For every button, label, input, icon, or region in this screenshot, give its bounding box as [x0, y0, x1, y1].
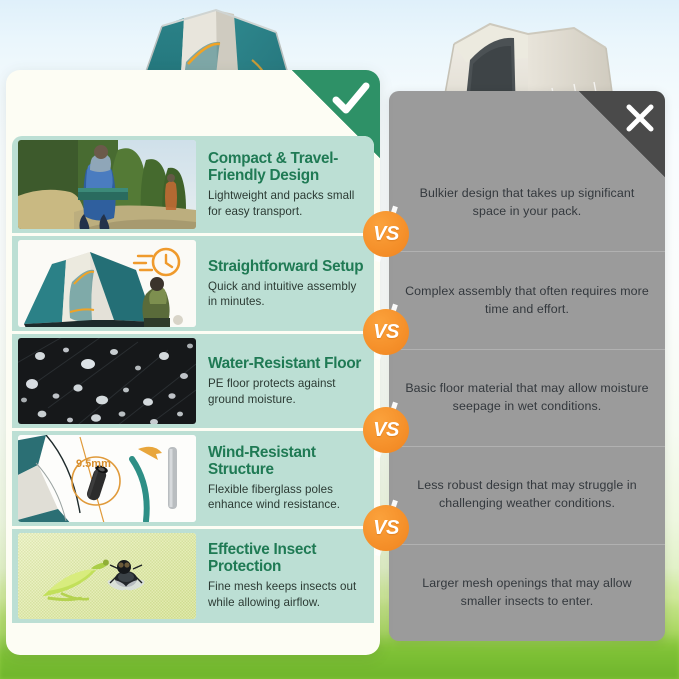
product-row-title: Effective Insect Protection — [208, 541, 364, 575]
product-row-image — [18, 533, 196, 619]
comparison-card-product: Compact & Travel-Friendly Design Lightwe… — [6, 70, 380, 655]
comparison-card-competitor: Bulkier design that takes up significant… — [389, 91, 665, 641]
product-row-image — [18, 338, 196, 424]
check-icon — [331, 82, 371, 118]
product-row-image: 9.5mm — [18, 435, 196, 521]
product-row: Water-Resistant Floor PE floor protects … — [12, 331, 374, 428]
vs-badge: VS — [363, 309, 409, 355]
product-row-desc: Flexible fiberglass poles enhance wind r… — [208, 482, 364, 513]
infographic-canvas: COSCO Bulkier de — [0, 0, 679, 679]
product-row: Straightforward Setup Quick and intuitiv… — [12, 233, 374, 330]
vs-badge: VS — [363, 407, 409, 453]
competitor-row: Complex assembly that often requires mor… — [389, 251, 665, 348]
competitor-row-text: Complex assembly that often requires mor… — [405, 283, 649, 319]
product-row-title: Wind-Resistant Structure — [208, 444, 364, 478]
competitor-row-text: Basic floor material that may allow mois… — [405, 380, 649, 416]
product-row-list: Compact & Travel-Friendly Design Lightwe… — [12, 136, 374, 647]
vs-badge-label: VS — [363, 309, 409, 355]
product-row-text: Water-Resistant Floor PE floor protects … — [196, 334, 374, 428]
competitor-row: Larger mesh openings that may allow smal… — [389, 544, 665, 641]
product-row-image — [18, 140, 196, 229]
vs-badge: VS — [363, 505, 409, 551]
vs-badge-label: VS — [363, 505, 409, 551]
vs-badge: VS — [363, 211, 409, 257]
competitor-row-list: Bulkier design that takes up significant… — [389, 154, 665, 641]
product-row-image — [18, 240, 196, 326]
product-row-desc: PE floor protects against ground moistur… — [208, 376, 364, 407]
product-row-desc: Fine mesh keeps insects out while allowi… — [208, 579, 364, 610]
product-row: Compact & Travel-Friendly Design Lightwe… — [12, 136, 374, 233]
product-row-text: Straightforward Setup Quick and intuitiv… — [196, 236, 374, 330]
product-row: Effective Insect Protection Fine mesh ke… — [12, 526, 374, 623]
product-row-title: Straightforward Setup — [208, 258, 364, 275]
product-row-desc: Lightweight and packs small for easy tra… — [208, 188, 364, 219]
competitor-row-text: Less robust design that may struggle in … — [405, 477, 649, 513]
product-row-text: Wind-Resistant Structure Flexible fiberg… — [196, 431, 374, 525]
competitor-row: Basic floor material that may allow mois… — [389, 349, 665, 446]
competitor-row-text: Bulkier design that takes up significant… — [405, 185, 649, 221]
product-row: 9.5mm Wind-Resistant Structure Flexible … — [12, 428, 374, 525]
close-icon — [623, 101, 657, 135]
competitor-row-text: Larger mesh openings that may allow smal… — [405, 575, 649, 611]
vs-badge-label: VS — [363, 407, 409, 453]
product-row-title: Compact & Travel-Friendly Design — [208, 150, 364, 184]
pole-diameter-callout: 9.5mm — [76, 458, 111, 470]
product-row-text: Effective Insect Protection Fine mesh ke… — [196, 529, 374, 623]
vs-badge-label: VS — [363, 211, 409, 257]
product-row-title: Water-Resistant Floor — [208, 355, 364, 372]
competitor-row: Less robust design that may struggle in … — [389, 446, 665, 543]
product-row-text: Compact & Travel-Friendly Design Lightwe… — [196, 136, 374, 233]
competitor-row: Bulkier design that takes up significant… — [389, 154, 665, 251]
product-row-desc: Quick and intuitive assembly in minutes. — [208, 279, 364, 310]
